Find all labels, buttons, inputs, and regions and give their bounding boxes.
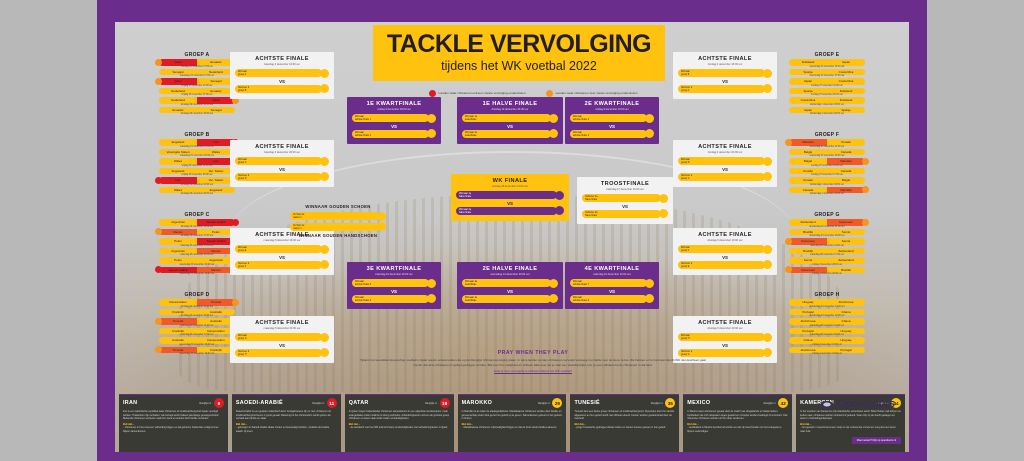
rank-wrap: Ranglijst nr.9 [199, 398, 224, 408]
match-datetime: dinsdag 29 november 20:00 uur [155, 193, 239, 195]
group-match-row[interactable]: BraziliëZwitserlandmaandag 28 november 1… [785, 248, 869, 257]
group-match-row[interactable]: ZwitserlandKameroendonderdag 24 november… [785, 219, 869, 228]
home-team: Japan [789, 78, 827, 85]
group-match-row[interactable]: PolenSaoedi-Arabiëzaterdag 26 november 1… [155, 238, 239, 247]
away-team: België [827, 177, 865, 184]
country-card[interactable]: SAOEDI-ARABIËRanglijst nr.11Saoedi-Arabi… [232, 394, 341, 452]
bracket-slot-2[interactable]: Verliezer 2e halve finale [582, 209, 668, 218]
bracket-date: woensdag 14 december 20:00 uur [462, 273, 558, 276]
versus-label: VS [235, 255, 329, 260]
home-team: Qatar [159, 78, 197, 85]
match-datetime: vrijdag 2 december 16:00 uur [785, 353, 869, 355]
match-datetime: dinsdag 29 november 16:00 uur [155, 104, 239, 106]
rank-label: Ranglijst nr. [538, 402, 551, 405]
country-card[interactable]: MEXICORanglijst nr.43In Mexico lopen chr… [683, 394, 792, 452]
rank-wrap: Ranglijst nr.29 [538, 398, 563, 408]
slot-1-label: Winnaar groep G [235, 334, 247, 340]
versus-label: VS [570, 289, 654, 294]
match-pill: JapanCosta Rica [789, 78, 865, 85]
versus-label: VS [678, 343, 772, 348]
match-pill: PolenSaoedi-Arabië [159, 238, 235, 245]
match-datetime: woensdag 30 november 16:00 uur [155, 344, 239, 346]
bracket-date: dinsdag 6 december 16:00 uur [678, 239, 772, 242]
slot-1-knob [427, 279, 436, 288]
slot-2-knob [763, 84, 772, 93]
bracket-slot-1[interactable]: Verliezer 1e halve finale [582, 194, 668, 203]
bracket-title: ACHTSTE FINALE [678, 232, 772, 239]
slot-1-knob [763, 245, 772, 254]
slot-2-knob [549, 294, 558, 303]
bracket-title: 2E KWARTFINALE [570, 101, 654, 108]
country-description: In het noorden van Kameroen zijn islamit… [800, 410, 901, 421]
match-datetime: vrijdag 25 november 11:00 uur [155, 165, 239, 167]
country-card[interactable]: IRANRanglijst nr.9Iran is een islamitisc… [119, 394, 228, 452]
group-match-row[interactable]: BraziliëServiëdonderdag 24 november 20:0… [785, 229, 869, 238]
match-datetime: donderdag 1 december 16:00 uur [785, 184, 869, 186]
card-header: MAROKKORanglijst nr.29 [462, 398, 563, 408]
group-match-row[interactable]: Costa RicaDuitslanddonderdag 1 december … [785, 97, 869, 106]
bracket-round-of-16-4[interactable]: ACHTSTE FINALEmaandag 5 december 20:00 u… [230, 316, 334, 363]
bracket-slot-1[interactable]: Winnaar groep H [678, 333, 772, 342]
group-match-row[interactable]: MarokkoKroatiëwoensdag 23 november 11:00… [785, 139, 869, 148]
match-datetime: vrijdag 2 december 20:00 uur [785, 264, 869, 266]
group-match-row[interactable]: FrankrijkDenemarkenzaterdag 26 november … [155, 328, 239, 337]
slot-1-label: Winnaar groep F [678, 246, 690, 252]
slot-2-knob [645, 294, 654, 303]
bracket-slot-1[interactable]: Winnaar groep B [678, 69, 772, 78]
legend-dot-icon [429, 90, 436, 97]
rank-label: Ranglijst nr. [199, 402, 212, 405]
slot-2-knob [549, 129, 558, 138]
country-description: Tunesië kent een kleine groep christenen… [574, 410, 675, 421]
match-datetime: zaterdag 26 november 20:00 uur [155, 254, 239, 256]
bracket-round-of-16-1[interactable]: ACHTSTE FINALEzaterdag 3 december 16:00 … [230, 52, 334, 99]
bracket-slot-1[interactable]: Winnaar 1e kwartfinale [462, 114, 558, 123]
versus-label: VS [235, 343, 329, 348]
bracket-semifinal-2[interactable]: 2E HALVE FINALEwoensdag 14 december 20:0… [457, 262, 563, 309]
bracket-date: zondag 4 december 16:00 uur [678, 63, 772, 66]
bracket-final[interactable]: WK FINALEzondag 18 december 16:00 uurWin… [451, 174, 569, 221]
group-match-row[interactable]: PortugalGhanadonderdag 24 november 17:00… [785, 309, 869, 318]
pray-text: ...kerkleiders in Mexico beschermd worde… [687, 426, 788, 433]
match-datetime: maandag 21 november 14:00 uur [155, 146, 239, 148]
bracket-title: 3E KWARTFINALE [352, 266, 436, 273]
match-pill: UruguayZuid-Korea [789, 299, 865, 306]
home-team: Uruguay [789, 299, 827, 306]
group-box-a: GROEP AQatarEcuadorzondag 20 november 17… [155, 52, 239, 116]
group-match-row[interactable]: PolenArgentiniëwoensdag 30 november 20:0… [155, 257, 239, 266]
bracket-date: zaterdag 10 december 20:00 uur [352, 273, 436, 276]
card-header: MEXICORanglijst nr.43 [687, 398, 788, 408]
slot-2-knob [320, 260, 329, 269]
match-pill: AustraliëDenemarken [159, 337, 235, 344]
group-match-row[interactable]: AustraliëDenemarkenwoensdag 30 november … [155, 337, 239, 346]
slot-1-label: Winnaar 3e kwartfinale [462, 280, 477, 286]
away-team: Zwitserland [827, 257, 865, 264]
match-datetime: zondag 27 november 14:00 uur [785, 165, 869, 167]
bracket-slot-2[interactable]: Nummer 2 groep C [678, 172, 772, 181]
home-team: Kameroen [789, 238, 827, 245]
slot-2-knob [763, 260, 772, 269]
group-match-row[interactable]: GhanaUruguayvrijdag 2 december 16:00 uur [785, 337, 869, 346]
group-match-row[interactable]: NederlandQatardinsdag 29 november 16:00 … [155, 97, 239, 106]
group-match-row[interactable]: QatarSenegalvrijdag 25 november 14:00 uu… [155, 78, 239, 87]
group-match-row[interactable]: DuitslandJapanwoensdag 23 november 14:00… [785, 59, 869, 68]
card-header: SAOEDI-ARABIËRanglijst nr.11 [236, 398, 337, 408]
poster-inner: TACKLE VERVOLGING tijdens het WK voetbal… [115, 22, 909, 452]
match-pill: PolenArgentinië [159, 257, 235, 264]
slot-2-label: Nummer 2 groep B [235, 86, 249, 92]
country-cards: IRANRanglijst nr.9Iran is een islamitisc… [115, 394, 909, 452]
bracket-quarterfinal-3[interactable]: 2E KWARTFINALEvrijdag 9 december 16:00 u… [565, 97, 659, 144]
match-datetime: vrijdag 2 december 16:00 uur [785, 344, 869, 346]
group-match-row[interactable]: TunesiëAustraliëzaterdag 26 november 11:… [155, 318, 239, 327]
versus-label: VS [678, 255, 772, 260]
match-datetime: donderdag 1 december 16:00 uur [785, 193, 869, 195]
golden-boot-slot[interactable]: Vul hier de naam in [290, 212, 386, 221]
bracket-slot-2[interactable]: Nummer 2 groep H [235, 348, 329, 357]
rank-badge: 35 [665, 398, 675, 408]
group-match-row[interactable]: NederlandEcuadorvrijdag 25 november 17:0… [155, 88, 239, 97]
group-title: GROEP F [785, 132, 869, 138]
match-datetime: zondag 27 november 17:00 uur [785, 174, 869, 176]
slot-1-knob [320, 157, 329, 166]
versus-label: VS [570, 124, 654, 129]
slot-1-knob [763, 69, 772, 78]
bracket-slot-1[interactable]: Winnaar achtste finale 3 [570, 114, 654, 123]
group-match-row[interactable]: ServiëZwitserlandvrijdag 2 december 20:0… [785, 257, 869, 266]
group-match-row[interactable]: EcuadorSenegaldinsdag 29 november 16:00 … [155, 107, 239, 116]
home-team: Costa Rica [789, 97, 827, 104]
bracket-slot-2[interactable]: Nummer 2 groep F [235, 260, 329, 269]
bracket-slot-1[interactable]: Winnaar groep G [235, 333, 329, 342]
versus-label: VS [462, 289, 558, 294]
bracket-slot-2[interactable]: Winnaar achtste finale 8 [570, 294, 654, 303]
slot-2-knob [763, 348, 772, 357]
bracket-slot-1[interactable]: Winnaar groep E [235, 245, 329, 254]
open-doors-logo: OpenDoors [820, 398, 895, 410]
group-match-row[interactable]: UruguayZuid-Koreadonderdag 24 november 1… [785, 299, 869, 308]
bracket-slot-1[interactable]: Winnaar groep F [678, 245, 772, 254]
group-box-c: GROEP CArgentiniëSaoedi-Arabiëdinsdag 22… [155, 212, 239, 276]
group-match-row[interactable]: EngelandIranmaandag 21 november 14:00 uu… [155, 139, 239, 148]
bracket-slot-1[interactable]: Winnaar groep D [678, 157, 772, 166]
country-name: TUNESIË [574, 400, 599, 406]
group-match-row[interactable]: KroatiëBelgiëdonderdag 1 december 16:00 … [785, 177, 869, 186]
home-team: Marokko [789, 139, 827, 146]
bracket-slot-1[interactable]: Winnaar achtste finale 5 [352, 279, 436, 288]
legend-item-0: Landen waar christenen extreem zware ver… [429, 90, 526, 97]
country-name: MEXICO [687, 400, 710, 406]
page-subtitle: tijdens het WK voetbal 2022 [373, 59, 665, 73]
group-match-row[interactable]: PortugalUruguaymaandag 28 november 20:00… [785, 328, 869, 337]
group-match-row[interactable]: SpanjeDuitslandzondag 27 november 20:00 … [785, 88, 869, 97]
bracket-slot-2[interactable]: Nummer 2 groep B [235, 84, 329, 93]
versus-label: VS [582, 204, 668, 209]
away-team: Zuid-Korea [827, 299, 865, 306]
group-match-row[interactable]: KameroenBraziliëvrijdag 2 december 20:00… [785, 267, 869, 276]
group-match-row[interactable]: JapanCosta Ricazondag 27 november 11:00 … [785, 78, 869, 87]
slot-2-label: Nummer 2 groep C [678, 174, 692, 180]
away-team: Saoedi-Arabië [197, 219, 235, 226]
group-match-row[interactable]: Zuid-KoreaPortugalvrijdag 2 december 16:… [785, 347, 869, 356]
bracket-title: TROOSTFINALE [582, 181, 668, 188]
group-match-row[interactable]: FrankrijkAustraliëdinsdag 22 november 20… [155, 309, 239, 318]
match-datetime: dinsdag 22 november 17:00 uur [155, 235, 239, 237]
pray-text: ...gelovigen in Saoedi-Arabië elkaar vin… [236, 426, 337, 433]
country-card[interactable]: QATARRanglijst nr.18In Qatar mogen buite… [345, 394, 454, 452]
bracket-slot-1[interactable]: Winnaar achtste finale 7 [570, 279, 654, 288]
group-match-row[interactable]: EngelandVer. Statenvrijdag 25 november 2… [155, 168, 239, 177]
slot-1-knob [555, 191, 564, 200]
match-pill: BelgiëMarokko [789, 158, 865, 165]
match-datetime: donderdag 24 november 17:00 uur [785, 315, 869, 317]
match-datetime: zaterdag 26 november 11:00 uur [155, 325, 239, 327]
bracket-title: 1E KWARTFINALE [352, 101, 436, 108]
golden-boot-label: Vul hier de naam in [290, 213, 304, 219]
match-pill: TunesiëAustralië [159, 318, 235, 325]
group-match-row[interactable]: WalesIranvrijdag 25 november 11:00 uur [155, 158, 239, 167]
group-match-row[interactable]: KameroenServiëmaandag 28 november 11:00 … [785, 238, 869, 247]
golden-glove-title: WINNAAR GOUDEN HANDSCHOEN [290, 233, 386, 239]
bracket-slot-1[interactable]: Winnaar groep C [235, 157, 329, 166]
bracket-title: ACHTSTE FINALE [678, 320, 772, 327]
footer-link-bar[interactable]: Meer weten? Kijk op opendoors.nl [852, 437, 901, 444]
slot-1-knob [645, 114, 654, 123]
pray-link[interactable]: Help jij mee vervolging te tackelen tijd… [357, 369, 709, 373]
match-pill: ZwitserlandKameroen [789, 219, 865, 226]
away-team: Japan [827, 59, 865, 66]
group-title: GROEP G [785, 212, 869, 218]
rank-label: Ranglijst nr. [764, 402, 777, 405]
bracket-date: dinsdag 13 december 20:00 uur [462, 108, 558, 111]
open-doors-mark-icon [820, 400, 834, 409]
versus-label: VS [352, 124, 436, 129]
match-pill: ServiëZwitserland [789, 257, 865, 264]
home-team: Tunesië [159, 318, 197, 325]
slot-2-knob [763, 172, 772, 181]
home-team: Polen [159, 238, 197, 245]
group-match-row[interactable]: Verenigde StatenWalesmaandag 21 november… [155, 149, 239, 158]
slot-1-knob [320, 333, 329, 342]
bracket-slot-2[interactable]: Winnaar 4e kwartfinale [462, 294, 558, 303]
title-banner: TACKLE VERVOLGING tijdens het WK voetbal… [373, 25, 665, 81]
bracket-title: WK FINALE [456, 178, 564, 185]
bracket-title: 1E HALVE FINALE [462, 101, 558, 108]
match-datetime: maandag 28 november 14:00 uur [785, 325, 869, 327]
rank-badge: 11 [327, 398, 337, 408]
match-datetime: zondag 20 november 17:00 uur [155, 66, 239, 68]
legend-label: Landen waar christenen zeer zware vervol… [556, 91, 638, 95]
group-match-row[interactable]: Zuid-KoreaGhanamaandag 28 november 14:00… [785, 318, 869, 327]
bracket-round-of-16-6[interactable]: ACHTSTE FINALEzondag 4 december 20:00 uu… [673, 140, 777, 187]
group-match-row[interactable]: BelgiëMarokkozondag 27 november 14:00 uu… [785, 158, 869, 167]
match-datetime: woensdag 23 november 20:00 uur [785, 155, 869, 157]
group-title: GROEP A [155, 52, 239, 58]
rank-label: Ranglijst nr. [425, 402, 438, 405]
match-pill: MarokkoKroatië [789, 139, 865, 146]
group-match-row[interactable]: SenegalNederlandmaandag 21 november 17:0… [155, 69, 239, 78]
bracket-date: zondag 18 december 16:00 uur [456, 185, 564, 188]
pray-body: Tijdens het wereldkampioenschap voetbal … [357, 358, 709, 367]
footer-note: Gegevens ontleend aan de Ranglijst Chris… [811, 425, 895, 428]
slot-1-knob [763, 157, 772, 166]
bracket-round-of-16-7[interactable]: ACHTSTE FINALEdinsdag 6 december 16:00 u… [673, 228, 777, 275]
slot-2-label: Winnaar 2e kwartfinale [462, 131, 477, 137]
bracket-slot-2[interactable]: Winnaar achtste finale 4 [570, 129, 654, 138]
bracket-quarterfinal-1[interactable]: 1E KWARTFINALEvrijdag 9 december 20:00 u… [347, 97, 441, 144]
match-datetime: dinsdag 29 november 20:00 uur [155, 184, 239, 186]
match-pill: Costa RicaDuitsland [789, 97, 865, 104]
bracket-slot-2[interactable]: Winnaar 2e halve finale [456, 206, 564, 215]
slot-1-knob [320, 245, 329, 254]
match-datetime: maandag 21 november 17:00 uur [155, 75, 239, 77]
bracket-third-place[interactable]: TROOSTFINALEzaterdag 17 december 16:00 u… [577, 177, 673, 224]
golden-glove-slot[interactable]: Vul hier de naam in [290, 222, 386, 231]
group-box-h: GROEP HUruguayZuid-Koreadonderdag 24 nov… [785, 292, 869, 356]
group-match-row[interactable]: TunesiëFrankrijkwoensdag 30 november 16:… [155, 347, 239, 356]
slot-1-label: Winnaar achtste finale 1 [352, 115, 371, 121]
bracket-date: maandag 5 december 16:00 uur [235, 239, 329, 242]
match-datetime: vrijdag 25 november 17:00 uur [155, 94, 239, 96]
match-pill: ArgentiniëSaoedi-Arabië [159, 219, 235, 226]
group-title: GROEP B [155, 132, 239, 138]
country-card[interactable]: MAROKKORanglijst nr.29In Marokko is de i… [458, 394, 567, 452]
bracket-round-of-16-2[interactable]: ACHTSTE FINALEzaterdag 3 december 20:00 … [230, 140, 334, 187]
slot-1-knob [659, 194, 668, 203]
country-name: IRAN [123, 400, 137, 406]
bracket-date: zaterdag 3 december 20:00 uur [235, 151, 329, 154]
bracket-title: 2E HALVE FINALE [462, 266, 558, 273]
slot-2-knob [320, 348, 329, 357]
slot-1-knob [763, 333, 772, 342]
group-match-row[interactable]: MexicoPolendinsdag 22 november 17:00 uur [155, 229, 239, 238]
match-pill: IranVer. Staten [159, 177, 235, 184]
match-pill: GhanaUruguay [789, 337, 865, 344]
slot-2-knob [659, 209, 668, 218]
home-team: Denemarken [159, 299, 197, 306]
slot-1-knob [427, 114, 436, 123]
group-title: GROEP H [785, 292, 869, 298]
slot-1-knob [549, 114, 558, 123]
group-box-g: GROEP GZwitserlandKameroendonderdag 24 n… [785, 212, 869, 276]
bracket-slot-1[interactable]: Winnaar groep A [235, 69, 329, 78]
slot-2-label: Nummer 2 groep E [678, 262, 692, 268]
bracket-date: maandag 5 december 20:00 uur [235, 327, 329, 330]
bracket-date: vrijdag 9 december 20:00 uur [352, 108, 436, 111]
group-match-row[interactable]: BelgiëCanadawoensdag 23 november 20:00 u… [785, 149, 869, 158]
away-team: Servië [827, 238, 865, 245]
match-datetime: donderdag 1 december 20:00 uur [785, 104, 869, 106]
slot-1-knob [320, 69, 329, 78]
bracket-slot-1[interactable]: Winnaar 1e halve finale [456, 191, 564, 200]
match-pill: DenemarkenTunesië [159, 299, 235, 306]
group-match-row[interactable]: SpanjeCosta Ricawoensdag 23 november 17:… [785, 69, 869, 78]
bracket-slot-1[interactable]: Winnaar 3e kwartfinale [462, 279, 558, 288]
versus-label: VS [235, 79, 329, 84]
slot-2-label: Nummer 2 groep D [235, 174, 249, 180]
group-match-row[interactable]: ArgentiniëMexicozaterdag 26 november 20:… [155, 248, 239, 257]
slot-1-label: Winnaar 1e kwartfinale [462, 115, 477, 121]
country-description: Iran is een islamitische republiek waar … [123, 410, 224, 421]
away-team: Uruguay [827, 337, 865, 344]
versus-label: VS [352, 289, 436, 294]
slot-1-label: Verliezer 1e halve finale [582, 195, 598, 201]
rank-wrap: Ranglijst nr.18 [425, 398, 450, 408]
page-title: TACKLE VERVOLGING [373, 25, 665, 59]
bracket-slot-1[interactable]: Winnaar achtste finale 1 [352, 114, 436, 123]
bracket-slot-2[interactable]: Nummer 2 groep E [678, 260, 772, 269]
match-datetime: dinsdag 22 november 11:00 uur [155, 226, 239, 228]
versus-label: VS [456, 201, 564, 206]
home-team: Polen [159, 257, 197, 264]
bracket-slot-2[interactable]: Nummer 2 groep D [235, 172, 329, 181]
group-match-row[interactable]: DenemarkenTunesiëdinsdag 22 november 14:… [155, 299, 239, 308]
rank-badge: 29 [552, 398, 562, 408]
match-datetime: woensdag 23 november 17:00 uur [785, 75, 869, 77]
group-match-row[interactable]: IranVer. Statendinsdag 29 november 20:00… [155, 177, 239, 186]
group-match-row[interactable]: Saoedi-ArabiëMexicowoensdag 30 november … [155, 267, 239, 276]
group-match-row[interactable]: KroatiëCanadazondag 27 november 17:00 uu… [785, 168, 869, 177]
bracket-slot-2[interactable]: Winnaar achtste finale 2 [352, 129, 436, 138]
slot-2-label: Winnaar achtste finale 6 [352, 296, 371, 302]
group-match-row[interactable]: QatarEcuadorzondag 20 november 17:00 uur [155, 59, 239, 68]
slot-1-label: Winnaar achtste finale 5 [352, 280, 371, 286]
group-title: GROEP C [155, 212, 239, 218]
group-match-row[interactable]: CanadaMarokkodonderdag 1 december 16:00 … [785, 187, 869, 196]
rank-label: Ranglijst nr. [651, 402, 664, 405]
country-card[interactable]: TUNESIËRanglijst nr.35Tunesië kent een k… [570, 394, 679, 452]
rank-wrap: Ranglijst nr.43 [764, 398, 789, 408]
bracket-quarterfinal-4[interactable]: 4E KWARTFINALEzaterdag 10 december 16:00… [565, 262, 659, 309]
slot-2-label: Winnaar 4e kwartfinale [462, 296, 477, 302]
card-header: QATARRanglijst nr.18 [349, 398, 450, 408]
bracket-slot-2[interactable]: Winnaar achtste finale 6 [352, 294, 436, 303]
match-datetime: zaterdag 26 november 17:00 uur [155, 334, 239, 336]
rank-wrap: Ranglijst nr.11 [312, 398, 337, 408]
match-datetime: vrijdag 2 december 20:00 uur [785, 273, 869, 275]
bracket-quarterfinal-2[interactable]: 3E KWARTFINALEzaterdag 10 december 20:00… [347, 262, 441, 309]
bracket-semifinal-1[interactable]: 1E HALVE FINALEdinsdag 13 december 20:00… [457, 97, 563, 144]
bracket-slot-2[interactable]: Winnaar 2e kwartfinale [462, 129, 558, 138]
home-team: Duitsland [789, 59, 827, 66]
match-datetime: donderdag 24 november 20:00 uur [785, 235, 869, 237]
card-header: TUNESIËRanglijst nr.35 [574, 398, 675, 408]
slot-2-knob [320, 172, 329, 181]
match-pill: WalesIran [159, 158, 235, 165]
slot-2-knob [555, 206, 564, 215]
country-description: In Marokko is de islam de staatsgodsdien… [462, 410, 563, 421]
match-datetime: woensdag 30 november 20:00 uur [155, 264, 239, 266]
country-description: In Mexico lopen christenen gevaar door d… [687, 410, 788, 421]
slot-2-label: Verliezer 2e halve finale [582, 211, 598, 217]
pray-text: ...Marokkaanse christenen vrijmoedigheid… [462, 426, 563, 430]
home-team: Nederland [159, 97, 197, 104]
golden-glove-knob [377, 222, 386, 231]
away-team: Costa Rica [827, 78, 865, 85]
group-match-row[interactable]: ArgentiniëSaoedi-Arabiëdinsdag 22 novemb… [155, 219, 239, 228]
home-team: Wales [159, 158, 197, 165]
bracket-title: 4E KWARTFINALE [570, 266, 654, 273]
group-match-row[interactable]: WalesEngelanddinsdag 29 november 20:00 u… [155, 187, 239, 196]
slot-1-label: Winnaar groep C [235, 158, 247, 164]
awards-block: WINNAAR GOUDEN SCHOEN Vul hier de naam i… [290, 204, 386, 239]
group-box-f: GROEP FMarokkoKroatiëwoensdag 23 novembe… [785, 132, 869, 196]
match-datetime: donderdag 24 november 14:00 uur [785, 306, 869, 308]
slot-1-label: Winnaar achtste finale 3 [570, 115, 589, 121]
match-datetime: maandag 28 november 11:00 uur [785, 245, 869, 247]
group-match-row[interactable]: JapanSpanjedonderdag 1 december 20:00 uu… [785, 107, 869, 116]
